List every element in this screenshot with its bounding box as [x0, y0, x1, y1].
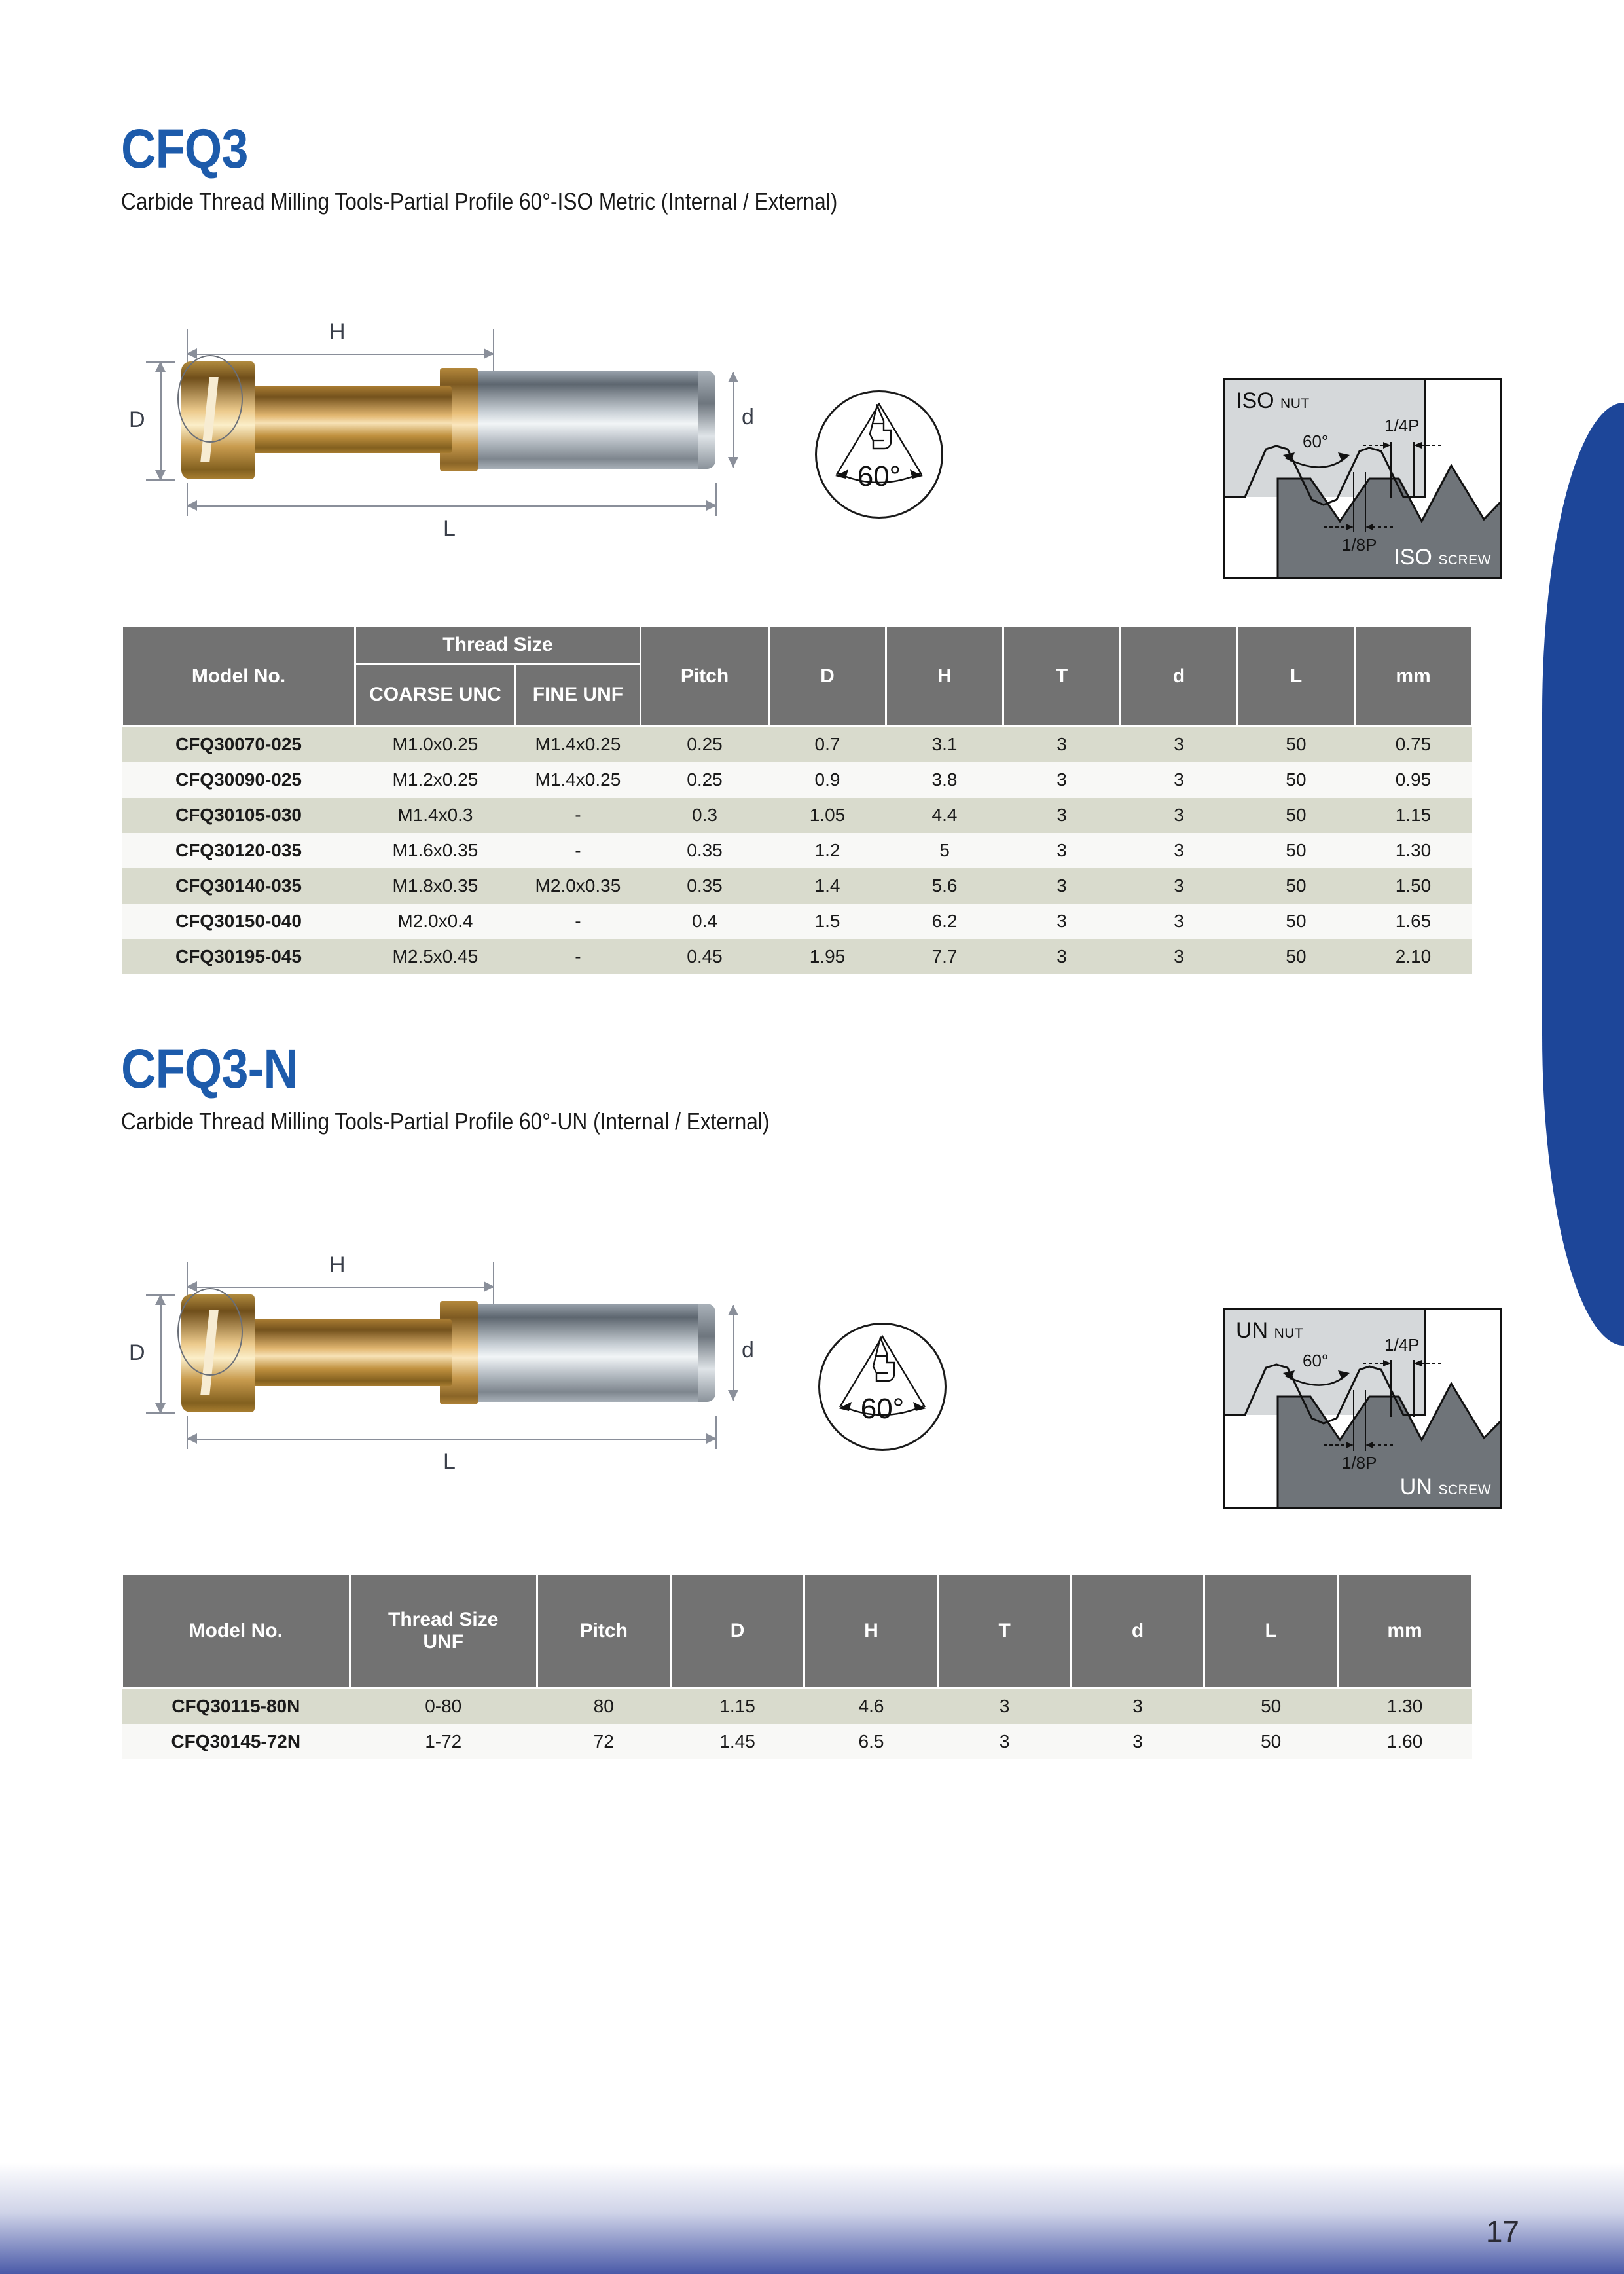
table-row: CFQ30105-030 M1.4x0.3 - 0.3 1.05 4.4 3 3… [122, 798, 1472, 833]
cell-L: 50 [1238, 833, 1355, 868]
th-thread-size-line1: Thread Size [388, 1609, 498, 1630]
cell-pitch: 0.3 [641, 798, 769, 833]
cell-pitch: 0.45 [641, 939, 769, 974]
table-header: Model No. Thread Size UNF Pitch D H T d … [122, 1575, 1472, 1688]
cell-coarse: M2.5x0.45 [355, 939, 516, 974]
cell-coarse: M1.4x0.3 [355, 798, 516, 833]
th-T: T [938, 1575, 1071, 1688]
page-number: 17 [1486, 2214, 1519, 2249]
cell-D: 1.15 [670, 1688, 804, 1725]
cell-L: 50 [1238, 726, 1355, 763]
cell-model: CFQ30150-040 [122, 904, 355, 939]
th-mm: mm [1355, 627, 1472, 726]
th-D: D [670, 1575, 804, 1688]
cell-pitch: 0.35 [641, 833, 769, 868]
th-L: L [1204, 1575, 1338, 1688]
th-coarse-unc: COARSE UNC [355, 664, 516, 726]
cell-H: 4.4 [886, 798, 1003, 833]
cell-model: CFQ30145-72N [122, 1724, 350, 1759]
cell-mm: 1.50 [1355, 868, 1472, 904]
tool-shank-cap [698, 371, 715, 469]
tool-shank-cap [698, 1304, 715, 1402]
section-title: CFQ3-N [121, 1041, 1357, 1096]
th-L: L [1238, 627, 1355, 726]
tool-head-outline [177, 1288, 243, 1376]
th-d: d [1071, 1575, 1204, 1688]
angle-detail-un: 60° [818, 1323, 947, 1451]
tool-shank [465, 371, 710, 469]
dim-label-d-small: d [742, 405, 754, 430]
cell-D: 0.7 [769, 726, 886, 763]
cell-T: 3 [1003, 762, 1121, 798]
cell-T: 3 [1003, 868, 1121, 904]
section-subtitle: Carbide Thread Milling Tools-Partial Pro… [121, 1108, 1357, 1135]
profile-nut-label: ISO NUT [1236, 388, 1310, 414]
side-tab: Carbide Special Cutters Series [1542, 403, 1624, 1346]
table-row: CFQ30120-035 M1.6x0.35 - 0.35 1.2 5 3 3 … [122, 833, 1472, 868]
cell-fine: M2.0x0.35 [515, 868, 640, 904]
dim-label-l: L [443, 1449, 456, 1475]
cell-pitch: 0.25 [641, 726, 769, 763]
table-row: CFQ30145-72N 1-72 72 1.45 6.5 3 3 50 1.6… [122, 1724, 1472, 1759]
section-subtitle: Carbide Thread Milling Tools-Partial Pro… [121, 188, 1357, 215]
table-body: CFQ30115-80N 0-80 80 1.15 4.6 3 3 50 1.3… [122, 1688, 1472, 1760]
th-d: d [1121, 627, 1238, 726]
cell-fine: M1.4x0.25 [515, 762, 640, 798]
cell-T: 3 [1003, 798, 1121, 833]
th-thread-size-line2: UNF [423, 1631, 463, 1653]
angle-value: 60° [857, 460, 901, 493]
cell-H: 4.6 [804, 1688, 938, 1725]
cell-fine: M1.4x0.25 [515, 726, 640, 763]
cell-H: 3.1 [886, 726, 1003, 763]
angle-detail-iso: 60° [815, 390, 943, 519]
tool-shank [465, 1304, 710, 1402]
spec-table-cfq3n: Model No. Thread Size UNF Pitch D H T d … [121, 1573, 1473, 1759]
cell-pitch: 0.25 [641, 762, 769, 798]
tool-neck [236, 386, 452, 453]
cell-H: 3.8 [886, 762, 1003, 798]
tool-drawing-un: H D d L [121, 1247, 749, 1463]
cell-L: 50 [1238, 904, 1355, 939]
table-row: CFQ30140-035 M1.8x0.35 M2.0x0.35 0.35 1.… [122, 868, 1472, 904]
profile-quarter-pitch: 1/4P [1384, 1335, 1420, 1355]
cell-mm: 1.30 [1338, 1688, 1472, 1725]
cell-T: 3 [938, 1688, 1071, 1725]
cell-T: 3 [1003, 904, 1121, 939]
cell-mm: 1.15 [1355, 798, 1472, 833]
table-header: Model No. Thread Size Pitch D H T d L mm… [122, 627, 1472, 726]
th-fine-unf: FINE UNF [515, 664, 640, 726]
cell-coarse: M2.0x0.4 [355, 904, 516, 939]
cell-d: 3 [1121, 833, 1238, 868]
thread-profile-iso: ISO NUT ISO SCREW 60° 1/4P 1/8P [1223, 378, 1502, 579]
catalog-page: Carbide Special Cutters Series CFQ3 Carb… [0, 0, 1624, 2274]
table-row: CFQ30115-80N 0-80 80 1.15 4.6 3 3 50 1.3… [122, 1688, 1472, 1725]
tool-drawing-iso: H D d L [121, 314, 749, 530]
cell-coarse: M1.2x0.25 [355, 762, 516, 798]
cell-mm: 2.10 [1355, 939, 1472, 974]
cell-D: 1.4 [769, 868, 886, 904]
cell-mm: 0.95 [1355, 762, 1472, 798]
th-D: D [769, 627, 886, 726]
cell-L: 50 [1238, 798, 1355, 833]
cell-pitch: 0.4 [641, 904, 769, 939]
cell-model: CFQ30105-030 [122, 798, 355, 833]
footer-gradient [0, 2163, 1624, 2274]
th-pitch: Pitch [641, 627, 769, 726]
profile-nut-label: UN NUT [1236, 1318, 1303, 1344]
cell-d: 3 [1121, 939, 1238, 974]
thread-profile-un: UN NUT UN SCREW 60° 1/4P 1/8P [1223, 1308, 1502, 1509]
cell-H: 6.2 [886, 904, 1003, 939]
profile-quarter-pitch: 1/4P [1384, 416, 1420, 436]
cell-model: CFQ30070-025 [122, 726, 355, 763]
cell-d: 3 [1071, 1688, 1204, 1725]
cell-T: 3 [938, 1724, 1071, 1759]
cell-D: 1.5 [769, 904, 886, 939]
cell-T: 3 [1003, 833, 1121, 868]
cell-D: 1.45 [670, 1724, 804, 1759]
cell-mm: 1.65 [1355, 904, 1472, 939]
tool-head-outline [177, 355, 243, 443]
dim-label-h: H [329, 320, 346, 345]
cell-model: CFQ30090-025 [122, 762, 355, 798]
table-body: CFQ30070-025 M1.0x0.25 M1.4x0.25 0.25 0.… [122, 726, 1472, 975]
cell-d: 3 [1121, 762, 1238, 798]
cell-T: 3 [1003, 726, 1121, 763]
dim-label-h: H [329, 1253, 346, 1278]
cell-coarse: M1.0x0.25 [355, 726, 516, 763]
cell-d: 3 [1121, 726, 1238, 763]
cell-mm: 0.75 [1355, 726, 1472, 763]
cell-fine: - [515, 833, 640, 868]
section-cfq3: CFQ3 Carbide Thread Milling Tools-Partia… [0, 121, 1525, 215]
dim-label-d-big: D [129, 407, 145, 433]
cell-d: 3 [1071, 1724, 1204, 1759]
dim-label-l: L [443, 516, 456, 541]
profile-eighth-pitch: 1/8P [1342, 535, 1377, 555]
profile-angle: 60° [1303, 431, 1328, 452]
side-tab-shape [1542, 403, 1624, 1346]
table-row: CFQ30195-045 M2.5x0.45 - 0.45 1.95 7.7 3… [122, 939, 1472, 974]
cell-coarse: M1.6x0.35 [355, 833, 516, 868]
spec-table-cfq3: Model No. Thread Size Pitch D H T d L mm… [121, 625, 1473, 974]
th-model: Model No. [122, 1575, 350, 1688]
cell-D: 0.9 [769, 762, 886, 798]
cell-fine: - [515, 904, 640, 939]
cell-pitch: 72 [537, 1724, 670, 1759]
cell-L: 50 [1238, 868, 1355, 904]
cell-H: 5 [886, 833, 1003, 868]
cell-T: 3 [1003, 939, 1121, 974]
profile-eighth-pitch: 1/8P [1342, 1453, 1377, 1473]
th-H: H [886, 627, 1003, 726]
profile-screw-label: UN SCREW [1400, 1475, 1491, 1500]
cell-pitch: 80 [537, 1688, 670, 1725]
cell-pitch: 0.35 [641, 868, 769, 904]
cell-H: 5.6 [886, 868, 1003, 904]
cell-L: 50 [1238, 762, 1355, 798]
cell-model: CFQ30115-80N [122, 1688, 350, 1725]
profile-screw-label: ISO SCREW [1394, 545, 1491, 570]
table-row: CFQ30090-025 M1.2x0.25 M1.4x0.25 0.25 0.… [122, 762, 1472, 798]
table-row: CFQ30070-025 M1.0x0.25 M1.4x0.25 0.25 0.… [122, 726, 1472, 763]
angle-arc-icon [820, 1325, 945, 1449]
th-model: Model No. [122, 627, 355, 726]
th-thread-size-unf: Thread Size UNF [350, 1575, 537, 1688]
angle-arc-icon [817, 392, 941, 517]
cell-d: 3 [1121, 868, 1238, 904]
cell-fine: - [515, 939, 640, 974]
cell-thread: 0-80 [350, 1688, 537, 1725]
cell-D: 1.05 [769, 798, 886, 833]
th-pitch: Pitch [537, 1575, 670, 1688]
th-H: H [804, 1575, 938, 1688]
cell-thread: 1-72 [350, 1724, 537, 1759]
th-T: T [1003, 627, 1121, 726]
cell-model: CFQ30120-035 [122, 833, 355, 868]
cell-mm: 1.30 [1355, 833, 1472, 868]
profile-angle: 60° [1303, 1351, 1328, 1371]
cell-D: 1.95 [769, 939, 886, 974]
angle-value: 60° [861, 1393, 905, 1425]
cell-coarse: M1.8x0.35 [355, 868, 516, 904]
cell-L: 50 [1204, 1724, 1338, 1759]
cell-L: 50 [1238, 939, 1355, 974]
th-thread-size: Thread Size [355, 627, 641, 664]
table-row: CFQ30150-040 M2.0x0.4 - 0.4 1.5 6.2 3 3 … [122, 904, 1472, 939]
cell-D: 1.2 [769, 833, 886, 868]
th-mm: mm [1338, 1575, 1472, 1688]
cell-mm: 1.60 [1338, 1724, 1472, 1759]
tool-neck [236, 1319, 452, 1386]
cell-model: CFQ30140-035 [122, 868, 355, 904]
cell-d: 3 [1121, 904, 1238, 939]
cell-H: 7.7 [886, 939, 1003, 974]
cell-d: 3 [1121, 798, 1238, 833]
dim-label-d-big: D [129, 1340, 145, 1366]
cell-fine: - [515, 798, 640, 833]
dim-label-d-small: d [742, 1338, 754, 1363]
cell-L: 50 [1204, 1688, 1338, 1725]
cell-H: 6.5 [804, 1724, 938, 1759]
section-cfq3n: CFQ3-N Carbide Thread Milling Tools-Part… [0, 1041, 1525, 1135]
section-title: CFQ3 [121, 121, 1357, 176]
cell-model: CFQ30195-045 [122, 939, 355, 974]
